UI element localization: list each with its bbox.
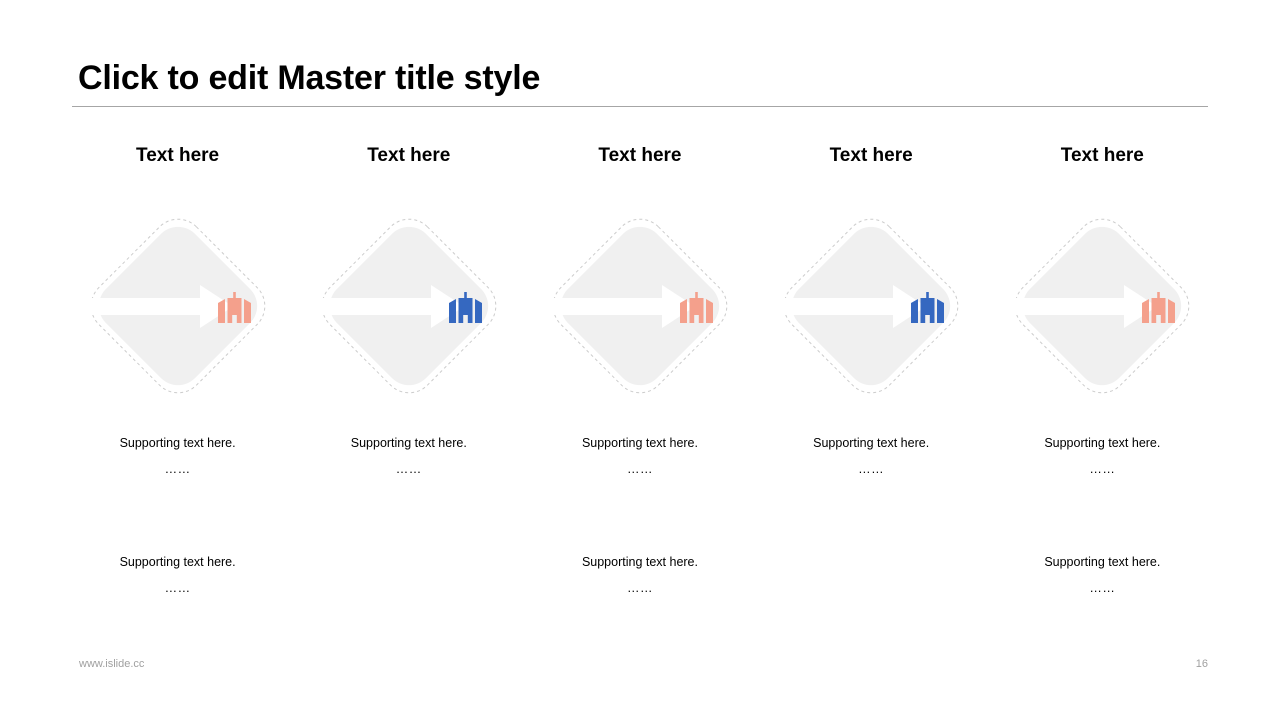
supporting-text-ellipsis: …… (293, 462, 524, 476)
diamond-graphic[interactable] (535, 199, 745, 414)
supporting-text-ellipsis: …… (987, 462, 1218, 476)
diamond-graphic[interactable] (997, 199, 1207, 414)
supporting-text-ellipsis: …… (756, 462, 987, 476)
supporting-text-line: Supporting text here. (756, 436, 987, 450)
supporting-text-line: Supporting text here. (293, 436, 524, 450)
supporting-text-block[interactable]: Supporting text here.…… (987, 555, 1218, 596)
footer-page-number: 16 (1178, 658, 1208, 670)
supporting-text-line: Supporting text here. (524, 436, 755, 450)
supporting-text-block[interactable]: Supporting text here.…… (524, 436, 755, 477)
supporting-text-line: Supporting text here. (987, 555, 1218, 569)
supporting-text-block[interactable]: Supporting text here.…… (756, 436, 987, 477)
column-heading[interactable]: Text here (367, 146, 450, 170)
supporting-text-block[interactable]: Supporting text here.…… (524, 555, 755, 596)
supporting-text-ellipsis: …… (524, 462, 755, 476)
column-heading[interactable]: Text here (1061, 146, 1144, 170)
title-divider (72, 106, 1208, 107)
supporting-text-line: Supporting text here. (62, 436, 293, 450)
supporting-text-block[interactable]: Supporting text here.…… (62, 436, 293, 477)
supporting-text-line: Supporting text here. (987, 436, 1218, 450)
column-2: Text hereSupporting text here.…… (293, 146, 524, 477)
column-3: Text hereSupporting text here.……Supporti… (524, 146, 755, 596)
supporting-text-block[interactable]: Supporting text here.…… (987, 436, 1218, 477)
column-heading[interactable]: Text here (598, 146, 681, 170)
supporting-text-line: Supporting text here. (62, 555, 293, 569)
column-heading[interactable]: Text here (136, 146, 219, 170)
diamond-graphic[interactable] (766, 199, 976, 414)
supporting-text-ellipsis: …… (62, 462, 293, 476)
supporting-text-block[interactable]: Supporting text here.…… (293, 436, 524, 477)
column-heading[interactable]: Text here (830, 146, 913, 170)
column-1: Text hereSupporting text here.……Supporti… (62, 146, 293, 596)
page-title[interactable]: Click to edit Master title style (78, 60, 540, 97)
supporting-text-ellipsis: …… (62, 581, 293, 595)
columns-container: Text hereSupporting text here.……Supporti… (62, 146, 1218, 596)
column-5: Text hereSupporting text here.……Supporti… (987, 146, 1218, 596)
diamond-graphic[interactable] (73, 199, 283, 414)
footer-url[interactable]: www.islide.cc (79, 658, 144, 670)
column-4: Text hereSupporting text here.…… (756, 146, 987, 477)
diamond-graphic[interactable] (304, 199, 514, 414)
supporting-text-ellipsis: …… (987, 581, 1218, 595)
supporting-text-line: Supporting text here. (524, 555, 755, 569)
supporting-text-ellipsis: …… (524, 581, 755, 595)
supporting-text-block[interactable]: Supporting text here.…… (62, 555, 293, 596)
